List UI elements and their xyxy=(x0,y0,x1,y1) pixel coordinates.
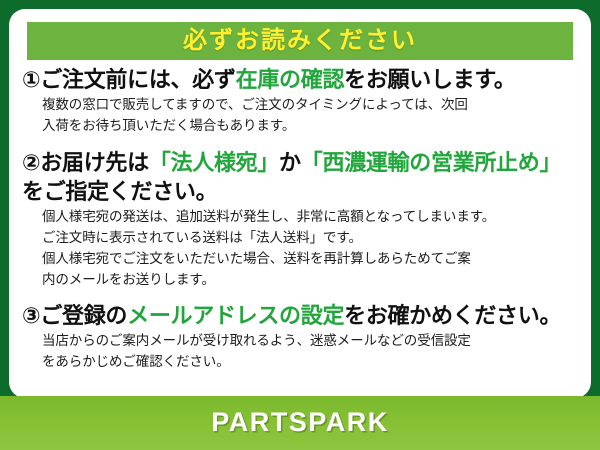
footer: PARTSPARK xyxy=(0,396,600,450)
item-1-heading-text-2: をお願いします。 xyxy=(344,67,515,92)
item-2-heading-text-3: をご指定ください。 xyxy=(22,179,217,204)
item-3-body: 当店からのご案内メールが受け取れるよう、迷惑メールなどの受信設定 をあらかじめご… xyxy=(22,331,577,373)
item-3-highlight: メールアドレスの設定 xyxy=(127,303,344,328)
item-3-heading-text-2: をお確かめください。 xyxy=(344,303,561,328)
item-1-highlight: 在庫の確認 xyxy=(236,67,345,92)
item-2-body-line-1: 個人様宅宛の発送は、追加送料が発生し、非常に高額となってしまいます。 xyxy=(42,207,577,228)
item-1-heading-text-1: ご注文前には、必ず xyxy=(40,67,235,92)
page-title: 必ずお読みください xyxy=(183,29,417,53)
item-2-heading-text-1: お届け先は xyxy=(40,150,149,175)
item-1-body-line-1: 複数の窓口で販売してますので、ご注文のタイミングによっては、次回 xyxy=(42,95,577,116)
item-3-heading: ③ご登録のメールアドレスの設定をお確かめください。 xyxy=(22,301,577,330)
item-2-body-line-3: 個人様宅宛でご注文をいただいた場合、送料を再計算しあらためてご案 xyxy=(42,249,577,270)
item-3-body-line-1: 当店からのご案内メールが受け取れるよう、迷惑メールなどの受信設定 xyxy=(42,331,577,352)
item-2-heading-text-2: か xyxy=(279,150,301,175)
item-1-heading: ①ご注文前には、必ず在庫の確認をお願いします。 xyxy=(22,65,577,94)
notice-list: ①ご注文前には、必ず在庫の確認をお願いします。 複数の窓口で販売してますので、ご… xyxy=(9,65,591,373)
item-2-highlight-1: 「法人様宛」 xyxy=(149,150,279,175)
item-1-body-line-2: 入荷をお待ち頂いただく場合もあります。 xyxy=(42,116,577,137)
list-item: ②お届け先は「法人様宛」か「西濃運輸の営業所止め」をご指定ください。 個人様宅宛… xyxy=(9,148,591,291)
item-2-body: 個人様宅宛の発送は、追加送料が発生し、非常に高額となってしまいます。 ご注文時に… xyxy=(22,207,577,291)
item-2-body-line-2: ご注文時に表示されている送料は「法人送料」です。 xyxy=(42,228,577,249)
header-bar: 必ずお読みください xyxy=(27,22,573,60)
item-2-marker: ② xyxy=(22,150,40,175)
list-item: ③ご登録のメールアドレスの設定をお確かめください。 当店からのご案内メールが受け… xyxy=(9,301,591,373)
item-2-highlight-2: 「西濃運輸の営業所止め」 xyxy=(301,150,561,175)
item-1-body: 複数の窓口で販売してますので、ご注文のタイミングによっては、次回 入荷をお待ち頂… xyxy=(22,95,577,137)
item-2-heading: ②お届け先は「法人様宛」か「西濃運輸の営業所止め」をご指定ください。 xyxy=(22,148,577,206)
item-3-body-line-2: をあらかじめご確認ください。 xyxy=(42,352,577,373)
item-3-marker: ③ xyxy=(22,303,40,328)
notice-banner: 必ずお読みください ①ご注文前には、必ず在庫の確認をお願いします。 複数の窓口で… xyxy=(0,0,600,450)
item-3-heading-text-1: ご登録の xyxy=(40,303,127,328)
white-panel: 必ずお読みください ①ご注文前には、必ず在庫の確認をお願いします。 複数の窓口で… xyxy=(9,9,591,398)
item-1-marker: ① xyxy=(22,67,40,92)
item-2-body-line-4: 内のメールをお送りします。 xyxy=(42,270,577,291)
brand-logo: PARTSPARK xyxy=(211,409,389,438)
list-item: ①ご注文前には、必ず在庫の確認をお願いします。 複数の窓口で販売してますので、ご… xyxy=(9,65,591,137)
